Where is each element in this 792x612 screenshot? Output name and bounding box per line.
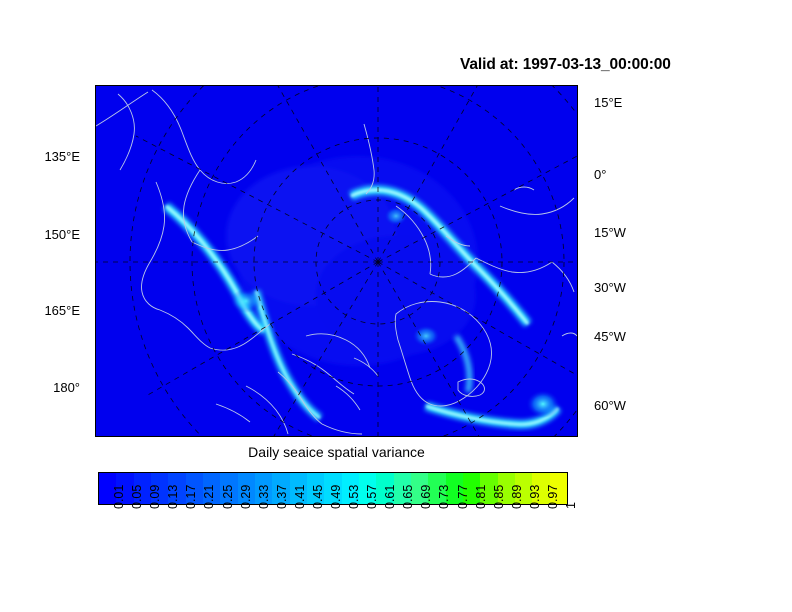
- colorbar-tick-label: 0.45: [311, 485, 325, 509]
- axis-tick-left: [95, 311, 96, 312]
- colorbar-tick-label: 0.29: [239, 485, 253, 509]
- axis-label-right-15e: 15°E: [594, 95, 622, 110]
- colorbar-tick-label: 0.41: [293, 485, 307, 509]
- axis-label-right-30w: 30°W: [594, 280, 626, 295]
- figure-canvas: Valid at: 1997-03-13_00:00:00: [0, 0, 792, 612]
- colorbar-tick-label: 0.01: [112, 485, 126, 509]
- colorbar-tick-label: 0.09: [148, 485, 162, 509]
- axis-label-left-165e: 165°E: [6, 303, 80, 318]
- axis-tick-left: [95, 235, 96, 236]
- colorbar-tick-label: 0.97: [546, 485, 560, 509]
- colorbar-tick-label: 0.85: [492, 485, 506, 509]
- colorbar-caption: Daily seaice spatial variance: [95, 444, 578, 460]
- axis-tick-left: [95, 157, 96, 158]
- colorbar-tick-label: 0.25: [221, 485, 235, 509]
- map-panel[interactable]: [95, 85, 578, 437]
- axis-label-left-150e: 150°E: [6, 227, 80, 242]
- axis-label-right-0: 0°: [594, 167, 606, 182]
- colorbar-tick-label: 0.05: [130, 485, 144, 509]
- colorbar-tick-label: 0.53: [347, 485, 361, 509]
- axis-label-left-180: 180°: [6, 380, 80, 395]
- colorbar-tick-label: 0.17: [184, 485, 198, 509]
- colorbar-tick-label: 0.93: [528, 485, 542, 509]
- colorbar-tick-label: 0.57: [365, 485, 379, 509]
- colorbar-tick-label: 0.21: [202, 485, 216, 509]
- colorbar-tick-label: 0.69: [419, 485, 433, 509]
- colorbar-tick-label: 0.89: [510, 485, 524, 509]
- axis-label-left-135e: 135°E: [6, 149, 80, 164]
- map-canvas: [96, 86, 577, 436]
- colorbar-tick-label: 0.37: [275, 485, 289, 509]
- colorbar-tick-label: 0.81: [474, 485, 488, 509]
- axis-tick-left: [95, 388, 96, 389]
- colorbar-tick-label: 0.73: [437, 485, 451, 509]
- axis-label-right-15w: 15°W: [594, 225, 626, 240]
- colorbar-tick-label: 1: [564, 502, 578, 509]
- colorbar-tick-label: 0.77: [456, 485, 470, 509]
- colorbar-tick-label: 0.49: [329, 485, 343, 509]
- colorbar-tick-label: 0.33: [257, 485, 271, 509]
- colorbar-tick-label: 0.61: [383, 485, 397, 509]
- page-title: Valid at: 1997-03-13_00:00:00: [460, 56, 780, 74]
- axis-label-right-45w: 45°W: [594, 329, 626, 344]
- axis-label-right-60w: 60°W: [594, 398, 626, 413]
- colorbar-tick-label: 0.65: [401, 485, 415, 509]
- colorbar-tick-label: 0.13: [166, 485, 180, 509]
